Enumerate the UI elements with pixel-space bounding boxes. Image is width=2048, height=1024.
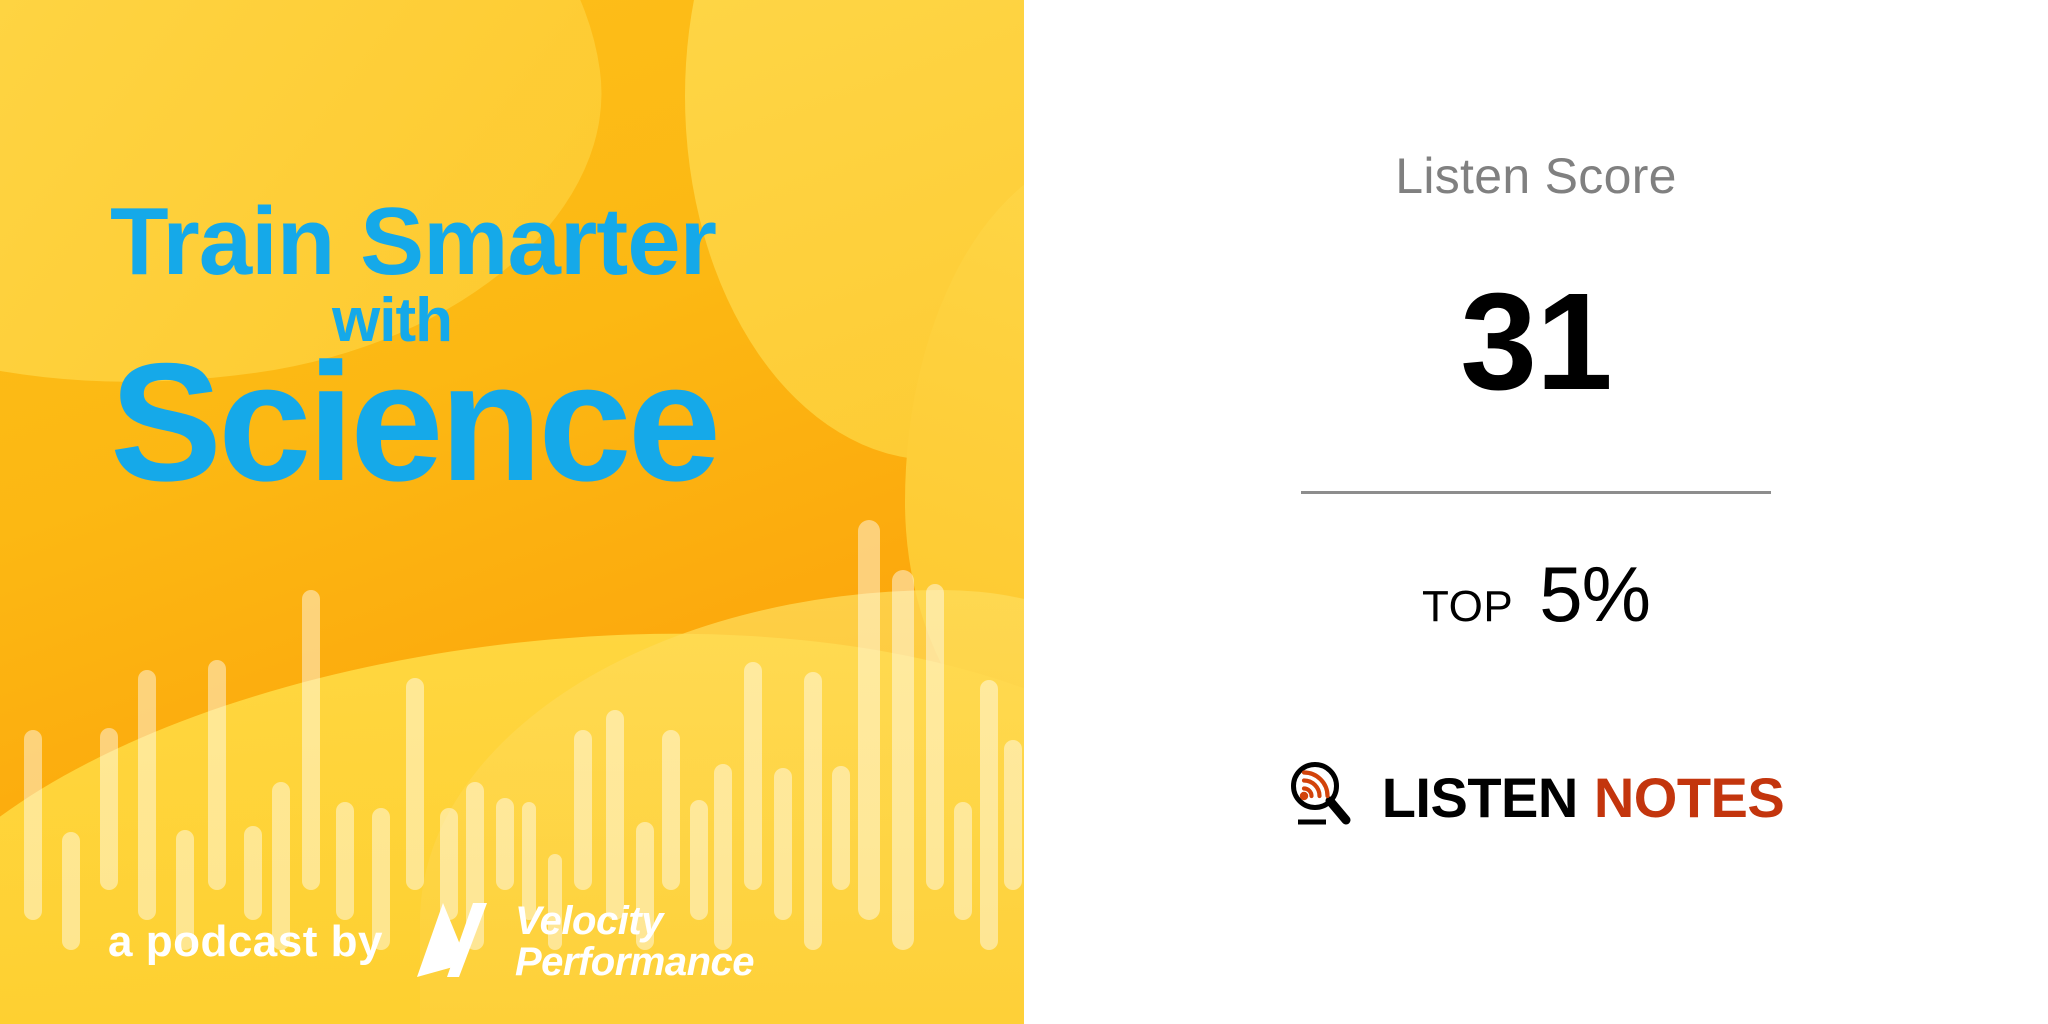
waveform-bar [954, 802, 972, 920]
podcast-artwork[interactable]: Train Smarter with Science a podcast by … [0, 0, 1024, 1024]
listen-score-value: 31 [1460, 263, 1612, 422]
velocity-performance-logo: Velocity Performance [409, 893, 754, 990]
waveform-bar [138, 670, 156, 920]
waveform-bar [24, 730, 42, 920]
waveform-bar [606, 710, 624, 920]
logo-word-notes: NOTES [1594, 765, 1784, 830]
waveform-bar [1004, 740, 1022, 890]
waveform-bar [100, 728, 118, 890]
podcast-credit-text: a podcast by [108, 917, 383, 967]
waveform-bar [662, 730, 680, 890]
listen-score-label: Listen Score [1395, 147, 1677, 205]
listen-notes-logo[interactable]: LISTEN NOTES [1288, 760, 1785, 835]
waveform-bar [832, 766, 850, 890]
artwork-title-line-3: Science [110, 345, 1024, 500]
percentile-value: 5% [1539, 549, 1650, 640]
rss-magnifier-icon [1288, 760, 1352, 835]
velocity-brand-name: Velocity Performance [515, 901, 754, 983]
score-panel: Listen Score 31 TOP 5% LISTEN [1024, 0, 2048, 1024]
listen-score-card: Train Smarter with Science a podcast by … [0, 0, 2048, 1024]
waveform-bar [406, 678, 424, 890]
logo-word-listen: LISTEN [1382, 765, 1578, 830]
artwork-footer: a podcast by Velocity Performance [108, 893, 754, 990]
waveform-bar [892, 570, 914, 950]
artwork-title: Train Smarter with Science [0, 0, 1024, 500]
brand-line-2: Performance [515, 940, 754, 984]
percentile-label: TOP [1422, 582, 1513, 632]
waveform-bar [804, 672, 822, 950]
waveform-bar [62, 832, 80, 950]
waveform-bar [980, 680, 998, 950]
waveform-bar [774, 768, 792, 920]
percentile-rank: TOP 5% [1422, 549, 1650, 640]
waveform-bar [858, 520, 880, 920]
waveform-bar [208, 660, 226, 890]
listen-notes-wordmark: LISTEN NOTES [1382, 765, 1785, 830]
score-divider [1301, 491, 1771, 494]
artwork-title-line-1: Train Smarter [110, 198, 1024, 286]
waveform-bar [574, 730, 592, 890]
waveform-bar [496, 798, 514, 890]
waveform-bar [302, 590, 320, 890]
waveform-bar [744, 662, 762, 890]
velocity-chevron-icon [409, 893, 501, 990]
waveform-bar [926, 584, 944, 890]
brand-line-1: Velocity [515, 899, 663, 943]
